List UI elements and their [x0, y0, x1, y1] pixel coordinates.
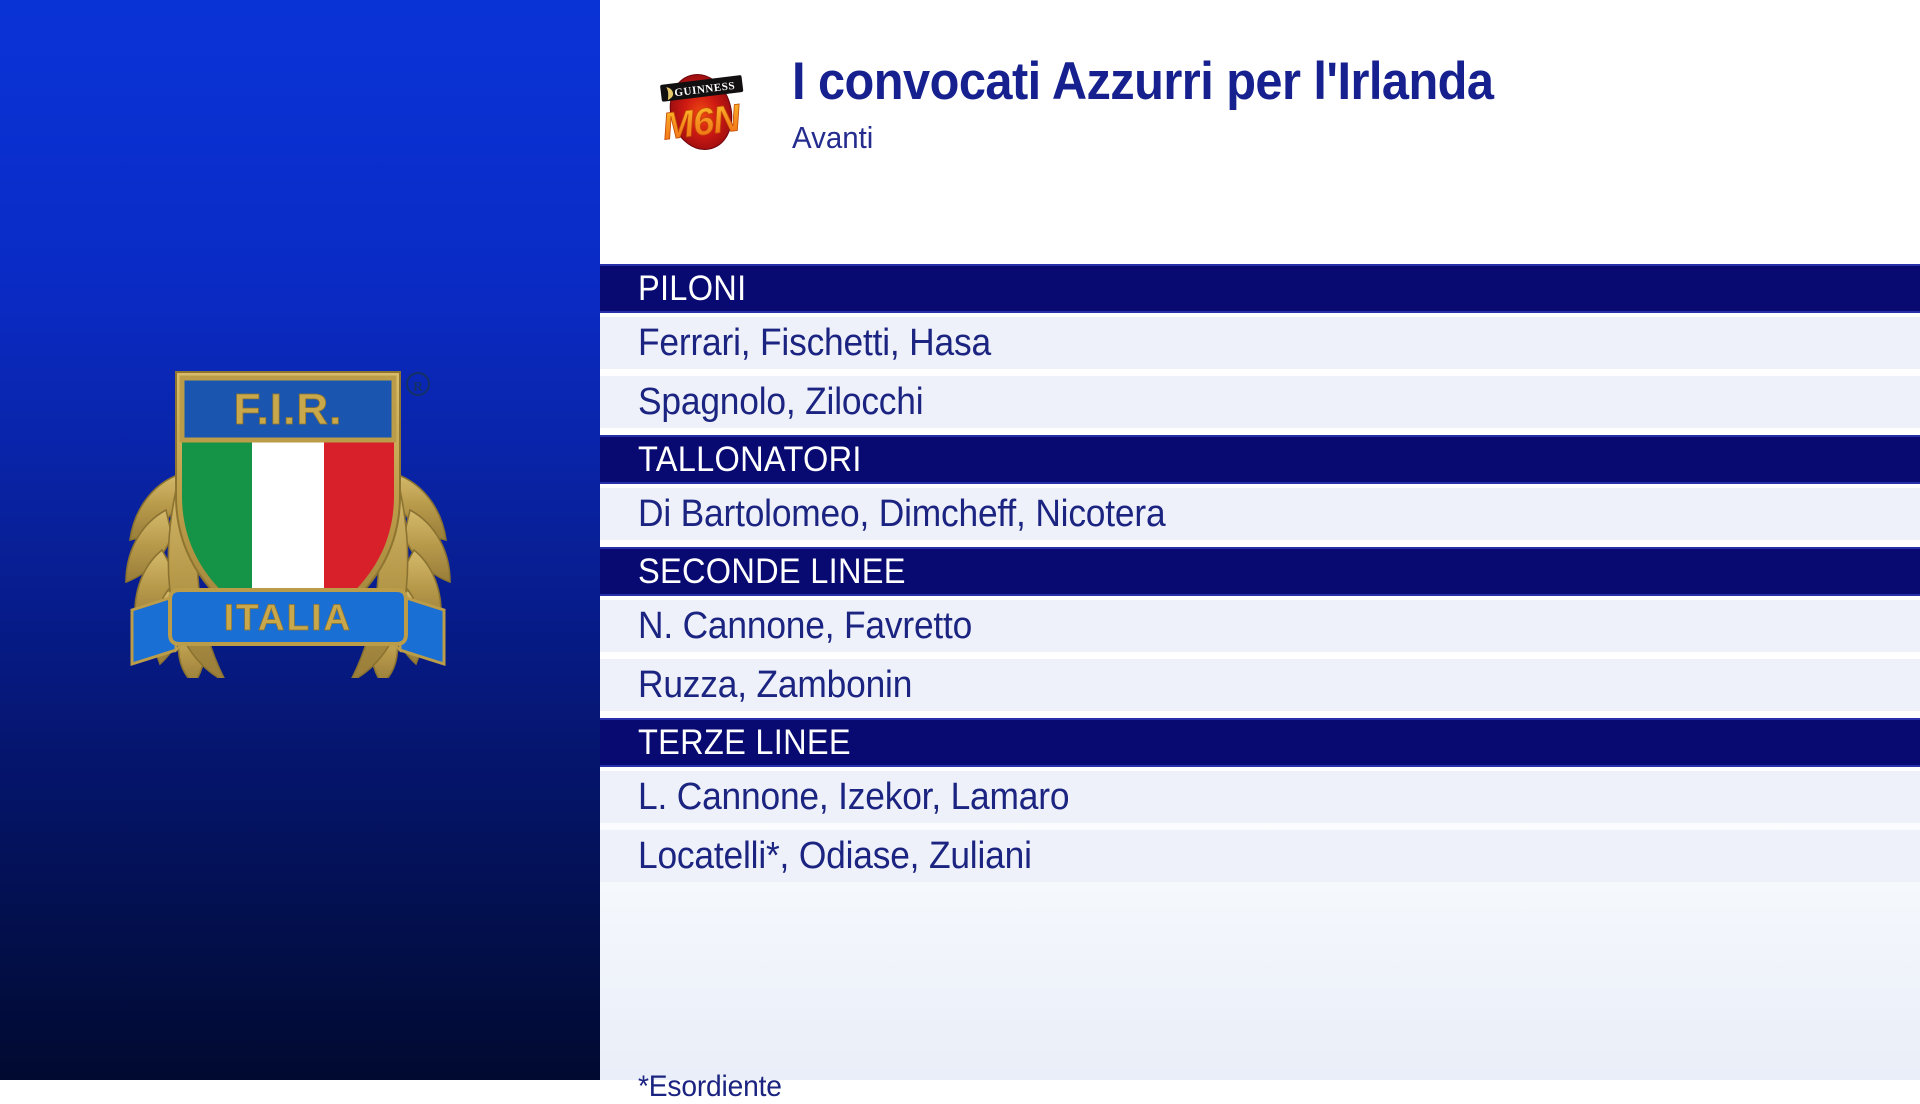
- squad-player-row-label: Di Bartolomeo, Dimcheff, Nicotera: [638, 493, 1165, 535]
- svg-text:R: R: [413, 380, 424, 395]
- squad-group-heading: TERZE LINEE: [600, 718, 1920, 767]
- squad-player-row-label: N. Cannone, Favretto: [638, 605, 972, 647]
- page-title: I convocati Azzurri per l'Irlanda: [792, 52, 1804, 112]
- squad-group-heading-label: PILONI: [638, 270, 746, 308]
- page-subtitle: Avanti: [792, 120, 1837, 156]
- squad-group-heading: TALLONATORI: [600, 435, 1920, 484]
- squad-group-heading-label: TERZE LINEE: [638, 724, 851, 762]
- squad-player-row: Ruzza, Zambonin: [600, 659, 1920, 711]
- page-header: GUINNESS M6N I convocati Azzurri per l'I…: [600, 0, 1920, 264]
- squad-player-row: L. Cannone, Izekor, Lamaro: [600, 771, 1920, 823]
- squad-player-row-label: Ferrari, Fischetti, Hasa: [638, 322, 991, 364]
- fir-title-text: F.I.R.: [234, 385, 343, 434]
- squad-player-row: Spagnolo, Zilocchi: [600, 376, 1920, 428]
- registered-mark-icon: R: [407, 373, 429, 395]
- squad-group-heading-label: SECONDE LINEE: [638, 553, 906, 591]
- m6n-wordmark: M6N: [660, 97, 744, 148]
- squad-group-heading: SECONDE LINEE: [600, 547, 1920, 596]
- content-panel: GUINNESS M6N I convocati Azzurri per l'I…: [600, 0, 1920, 1080]
- squad-group-heading-label: TALLONATORI: [638, 441, 862, 479]
- m6n-logo-icon: GUINNESS M6N: [647, 65, 755, 155]
- fir-crest: F.I.R. R ITALIA: [118, 278, 458, 678]
- squad-player-row: N. Cannone, Favretto: [600, 600, 1920, 652]
- squad-player-row: Ferrari, Fischetti, Hasa: [600, 317, 1920, 369]
- infographic-root: F.I.R. R ITALIA: [0, 0, 1920, 1080]
- squad-player-row: Locatelli*, Odiase, Zuliani: [600, 830, 1920, 882]
- squad-table: PILONIFerrari, Fischetti, HasaSpagnolo, …: [600, 264, 1920, 1080]
- squad-player-row: Di Bartolomeo, Dimcheff, Nicotera: [600, 488, 1920, 540]
- fir-crest-svg: F.I.R. R ITALIA: [118, 278, 458, 678]
- squad-player-row-label: Ruzza, Zambonin: [638, 664, 912, 706]
- footnote: *Esordiente: [638, 1070, 782, 1104]
- title-block: I convocati Azzurri per l'Irlanda Avanti: [792, 52, 1892, 156]
- squad-player-row-label: Locatelli*, Odiase, Zuliani: [638, 835, 1032, 877]
- left-brand-panel: F.I.R. R ITALIA: [0, 0, 600, 1080]
- squad-player-row-label: L. Cannone, Izekor, Lamaro: [638, 776, 1069, 818]
- squad-group-heading: PILONI: [600, 264, 1920, 313]
- squad-player-row-label: Spagnolo, Zilocchi: [638, 381, 923, 423]
- italia-ribbon-text: ITALIA: [224, 597, 352, 638]
- svg-text:M6N: M6N: [660, 97, 744, 148]
